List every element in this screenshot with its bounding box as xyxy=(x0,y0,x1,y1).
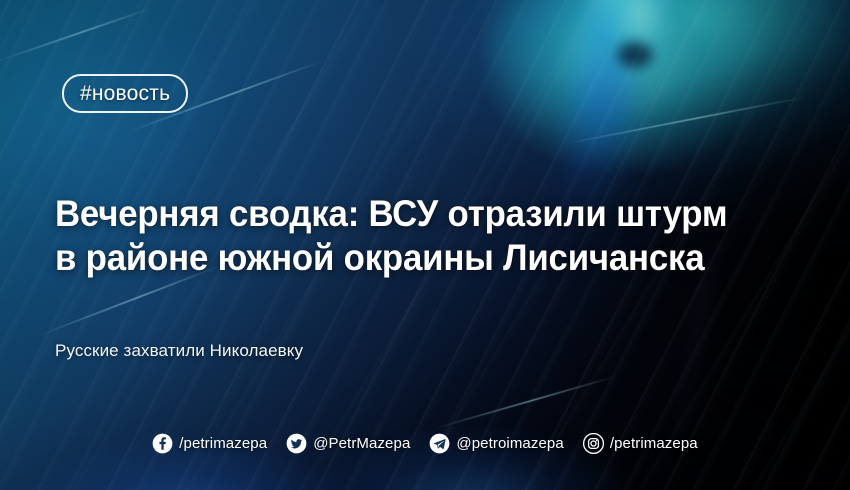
social-handle-facebook: /petrimazepa xyxy=(179,435,267,452)
social-link-instagram[interactable]: /petrimazepa xyxy=(583,433,698,454)
news-card: #новость Вечерняя сводка: ВСУ отразили ш… xyxy=(0,0,850,490)
social-link-twitter[interactable]: @PetrMazepa xyxy=(286,433,410,454)
facebook-icon xyxy=(152,433,173,454)
category-badge[interactable]: #новость xyxy=(62,74,188,113)
social-handle-twitter: @PetrMazepa xyxy=(313,435,410,452)
twitter-icon xyxy=(286,433,307,454)
social-link-telegram[interactable]: @petroimazepa xyxy=(429,433,563,454)
telegram-icon xyxy=(429,433,450,454)
social-handle-instagram: /petrimazepa xyxy=(610,435,698,452)
instagram-icon xyxy=(583,433,604,454)
page-title: Вечерняя сводка: ВСУ отразили штурм в ра… xyxy=(55,192,751,280)
social-links-bar: /petrimazepa @PetrMazepa @petroimazepa xyxy=(0,433,850,454)
social-link-facebook[interactable]: /petrimazepa xyxy=(152,433,267,454)
subtitle: Русские захватили Николаевку xyxy=(55,341,303,361)
social-handle-telegram: @petroimazepa xyxy=(456,435,563,452)
card-content: #новость Вечерняя сводка: ВСУ отразили ш… xyxy=(0,0,850,490)
